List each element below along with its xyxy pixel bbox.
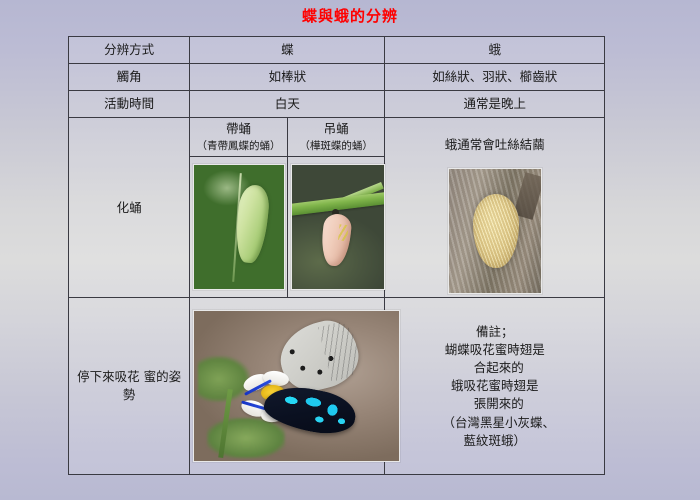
cell-activity-moth: 通常是晚上 xyxy=(385,91,605,118)
feeding-label-line1: 停下來吸花 xyxy=(77,369,140,384)
note-line-4: 張開來的 xyxy=(388,395,601,413)
cocoon-photo xyxy=(448,168,542,294)
cell-antenna-butterfly: 如棒狀 xyxy=(190,64,385,91)
note-line-3: 蛾吸花蜜時翅是 xyxy=(388,377,601,395)
girdled-pupa-subtitle: （青帶鳳蝶的蛹） xyxy=(193,139,284,154)
table-row-antenna: 觸角 如棒狀 如絲狀、羽狀、櫛齒狀 xyxy=(69,64,605,91)
table-header-row: 分辨方式 蝶 蛾 xyxy=(69,37,605,64)
hanging-pupa-subtitle: （樺斑蝶的蛹） xyxy=(291,139,382,154)
header-moth: 蛾 xyxy=(385,37,605,64)
silk-cocoon-shape xyxy=(473,194,519,268)
row-label-activity-time: 活動時間 xyxy=(69,91,190,118)
moth-cocoon-text: 蛾通常會吐絲結繭 xyxy=(445,136,545,154)
cell-pupation-moth: 蛾通常會吐絲結繭 xyxy=(385,118,605,298)
header-butterfly: 蝶 xyxy=(190,37,385,64)
hanging-pupa-photo xyxy=(291,164,385,290)
cell-pupation-girdled-caption: 帶蛹 （青帶鳳蝶的蛹） xyxy=(190,118,288,157)
note-line-1: 蝴蝶吸花蜜時翅是 xyxy=(388,341,601,359)
girdled-pupa-title: 帶蛹 xyxy=(226,121,251,136)
row-label-pupation: 化蛹 xyxy=(69,118,190,298)
note-line-2: 合起來的 xyxy=(388,359,601,377)
table-row-pupation-captions: 化蛹 帶蛹 （青帶鳳蝶的蛹） 吊蛹 （樺斑蝶的蛹） 蛾通常會吐絲結繭 xyxy=(69,118,605,157)
pink-pupa-shape xyxy=(320,212,353,267)
note-line-5: （台灣黑星小灰蝶、 xyxy=(388,414,601,432)
butterfly-moth-feeding-photo xyxy=(193,310,400,462)
cell-activity-butterfly: 白天 xyxy=(190,91,385,118)
page-title: 蝶與蛾的分辨 xyxy=(0,5,700,27)
girdled-pupa-photo xyxy=(193,164,285,290)
cell-feeding-notes: 備註； 蝴蝶吸花蜜時翅是 合起來的 蛾吸花蜜時翅是 張開來的 （台灣黑星小灰蝶、… xyxy=(385,298,605,475)
header-method: 分辨方式 xyxy=(69,37,190,64)
hanging-pupa-title: 吊蛹 xyxy=(324,121,349,136)
cell-hanging-pupa-photo xyxy=(287,157,385,298)
cell-feeding-photo xyxy=(190,298,385,475)
note-line-0: 備註； xyxy=(388,323,601,341)
note-line-6: 藍紋斑蛾） xyxy=(388,432,601,450)
cell-antenna-moth: 如絲狀、羽狀、櫛齒狀 xyxy=(385,64,605,91)
row-label-feeding-posture: 停下來吸花 蜜的姿勢 xyxy=(69,298,190,475)
table-row-feeding-posture: 停下來吸花 蜜的姿勢 xyxy=(69,298,605,475)
butterfly-moth-comparison-table: 分辨方式 蝶 蛾 觸角 如棒狀 如絲狀、羽狀、櫛齒狀 活動時間 白天 通常是晚上… xyxy=(68,36,605,475)
row-label-antenna: 觸角 xyxy=(69,64,190,91)
table-row-activity-time: 活動時間 白天 通常是晚上 xyxy=(69,91,605,118)
cell-pupation-hanging-caption: 吊蛹 （樺斑蝶的蛹） xyxy=(287,118,385,157)
cell-girdled-pupa-photo xyxy=(190,157,288,298)
